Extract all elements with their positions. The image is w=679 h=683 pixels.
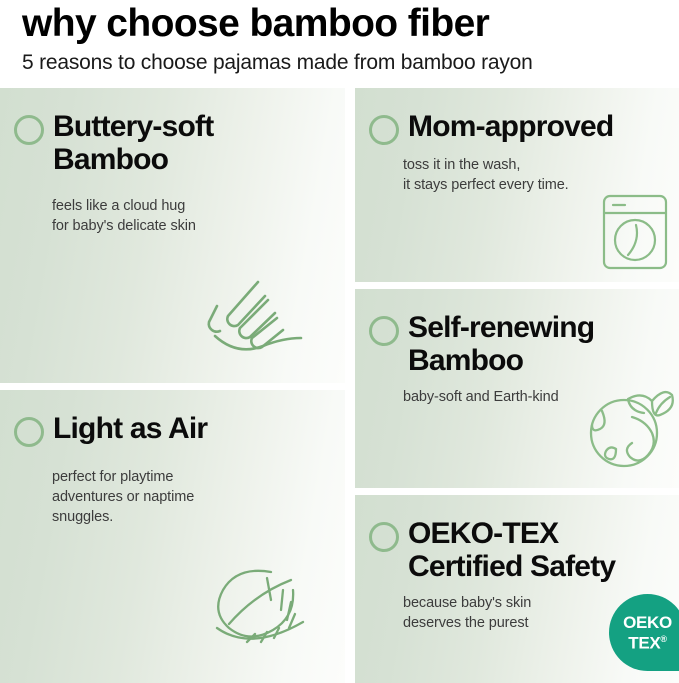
circle-bullet-icon (14, 417, 44, 447)
card-title: Buttery-soft Bamboo (53, 108, 213, 176)
right-column: Mom-approved toss it in the wash, it sta… (355, 88, 679, 683)
card-light-as-air[interactable]: Light as Air perfect for playtime advent… (0, 390, 345, 683)
card-buttery-soft-bamboo[interactable]: Buttery-soft Bamboo feels like a cloud h… (0, 88, 345, 383)
card-title: Mom-approved (408, 108, 613, 143)
card-header: Self-renewing Bamboo (355, 289, 679, 377)
oeko-badge-line2: TEX® (628, 631, 667, 652)
card-body: toss it in the wash, it stays perfect ev… (355, 145, 679, 195)
card-header: Mom-approved (355, 88, 679, 145)
card-title: Light as Air (53, 410, 207, 445)
oeko-badge-text: TEX (628, 633, 660, 652)
card-body: perfect for playtime adventures or napti… (0, 447, 345, 527)
benefits-grid: Buttery-soft Bamboo feels like a cloud h… (0, 88, 679, 683)
feather-icon (199, 562, 327, 663)
card-title: OEKO-TEX Certified Safety (408, 515, 615, 583)
card-title: Self-renewing Bamboo (408, 309, 594, 377)
card-header: OEKO-TEX Certified Safety (355, 495, 679, 583)
washing-machine-icon (601, 193, 669, 276)
globe-with-leaf-icon (582, 383, 674, 476)
circle-bullet-icon (369, 115, 399, 145)
oeko-badge-line1: OEKO (623, 614, 672, 631)
card-mom-approved[interactable]: Mom-approved toss it in the wash, it sta… (355, 88, 679, 282)
registered-trademark-icon: ® (660, 634, 666, 644)
circle-bullet-icon (14, 115, 44, 145)
page-header: why choose bamboo fiber 5 reasons to cho… (0, 0, 679, 76)
oeko-tex-badge-icon: OEKO TEX® (609, 594, 679, 671)
card-self-renewing-bamboo[interactable]: Self-renewing Bamboo baby-soft and Earth… (355, 289, 679, 488)
left-column: Buttery-soft Bamboo feels like a cloud h… (0, 88, 345, 683)
circle-bullet-icon (369, 522, 399, 552)
card-header: Light as Air (0, 390, 345, 447)
page-title: why choose bamboo fiber (22, 0, 679, 46)
hand-touching-soft-fabric-icon (195, 276, 305, 373)
card-body: feels like a cloud hug for baby's delica… (0, 176, 345, 236)
circle-bullet-icon (369, 316, 399, 346)
card-header: Buttery-soft Bamboo (0, 88, 345, 176)
card-oeko-tex-certified-safety[interactable]: OEKO-TEX Certified Safety because baby's… (355, 495, 679, 683)
page-subtitle: 5 reasons to choose pajamas made from ba… (22, 46, 679, 76)
